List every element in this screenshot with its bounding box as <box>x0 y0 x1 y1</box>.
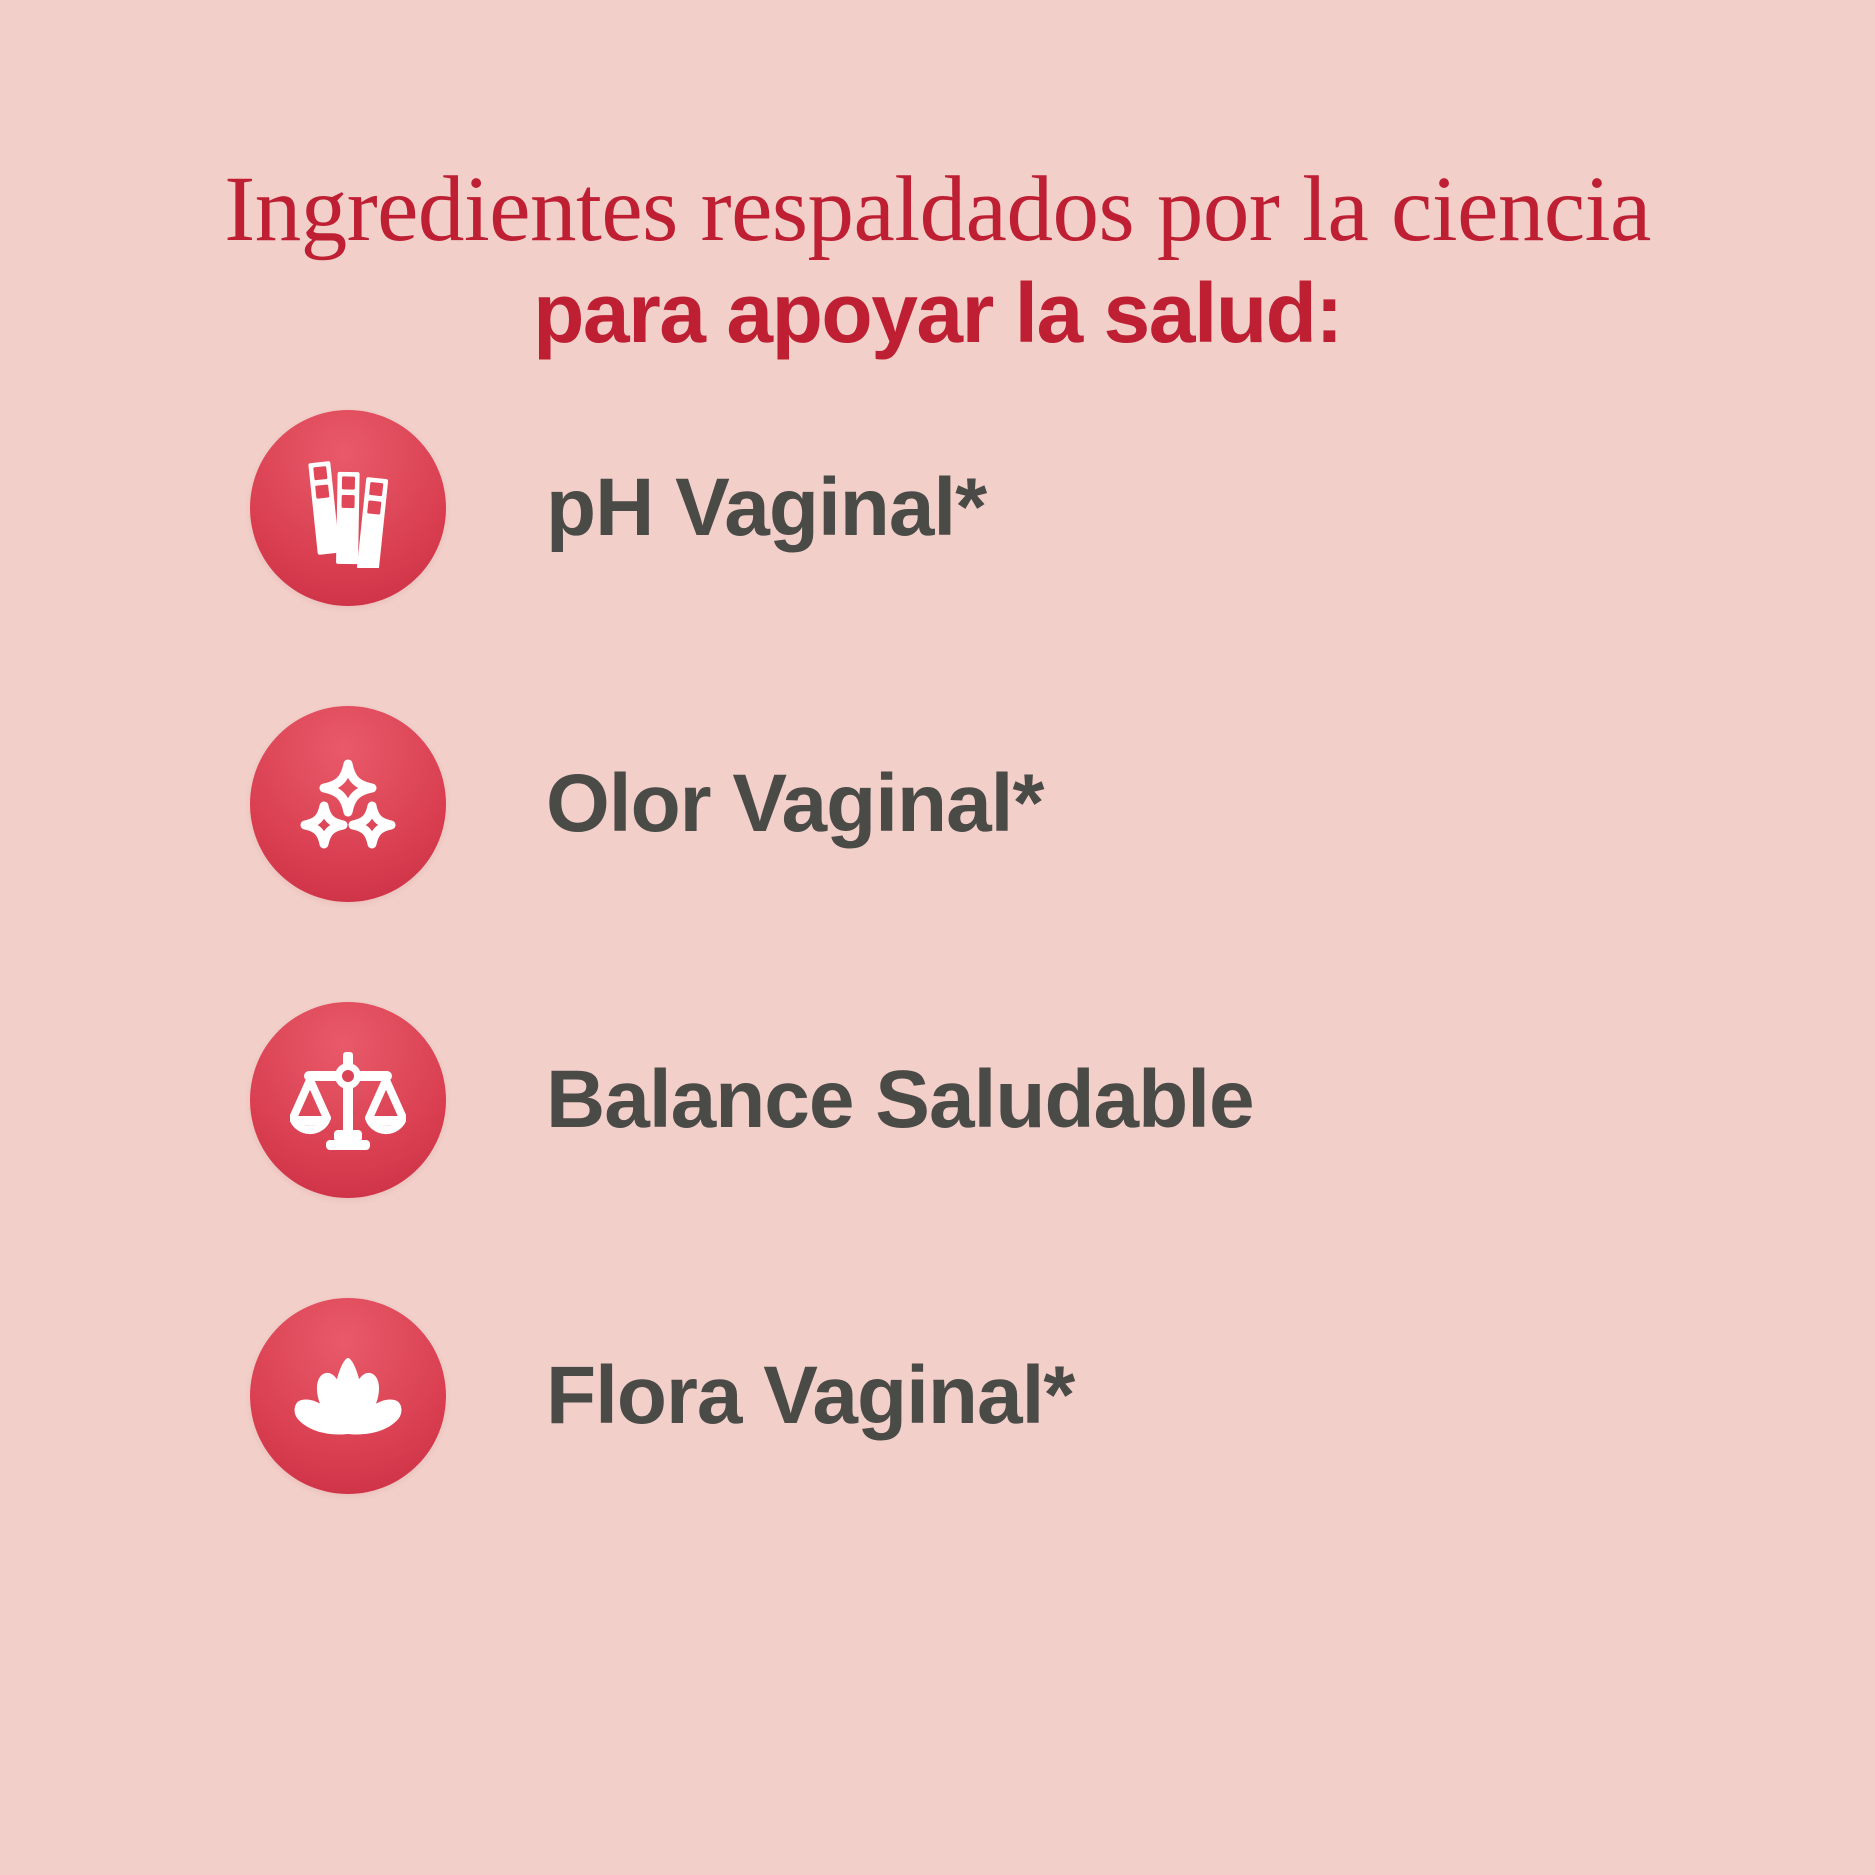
list-item-label: pH Vaginal* <box>546 461 986 555</box>
list-item: Flora Vaginal* <box>250 1298 1810 1494</box>
list-item-label: Balance Saludable <box>546 1053 1254 1147</box>
list-item-label: Olor Vaginal* <box>546 757 1043 851</box>
page-title: Ingredientes respaldados por la ciencia … <box>0 160 1875 361</box>
heading-line-2: para apoyar la salud: <box>0 266 1875 360</box>
promo-poster: Ingredientes respaldados por la ciencia … <box>0 0 1875 1875</box>
lotus-flower-icon <box>250 1298 446 1494</box>
list-item: pH Vaginal* <box>250 410 1810 606</box>
balance-scale-icon <box>250 1002 446 1198</box>
list-item: Olor Vaginal* <box>250 706 1810 902</box>
ph-test-strips-icon <box>250 410 446 606</box>
heading-line-1: Ingredientes respaldados por la ciencia <box>0 160 1875 260</box>
feature-list: pH Vaginal* Olor Vaginal* <box>250 410 1810 1494</box>
sparkles-icon <box>250 706 446 902</box>
list-item-label: Flora Vaginal* <box>546 1349 1074 1443</box>
list-item: Balance Saludable <box>250 1002 1810 1198</box>
